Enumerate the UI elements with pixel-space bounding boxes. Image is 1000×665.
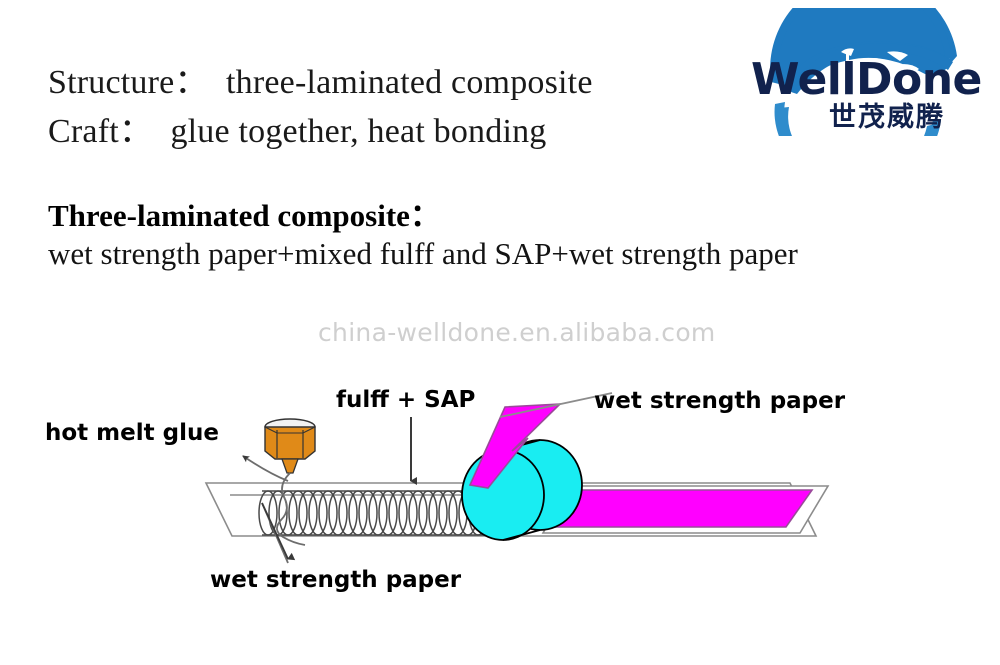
glue-nozzle: [265, 419, 315, 473]
header-structure-line: Structure： three-laminated composite: [48, 54, 593, 103]
logo-wordmark: WellDone: [751, 54, 982, 105]
section-title: Three-laminated composite：: [48, 190, 441, 235]
label-wet-strength-paper-bottom: wet strength paper: [210, 567, 461, 593]
header-craft-line: Craft： glue together, heat bonding: [48, 103, 547, 152]
label-wet-strength-paper-top: wet strength paper: [594, 388, 845, 414]
section-body: wet strength paper+mixed fulff and SAP+w…: [48, 236, 798, 272]
logo-chinese-name: 世茂威腾: [829, 102, 945, 133]
brand-logo: WellDone 世茂威腾: [745, 8, 985, 136]
label-hot-melt-glue: hot melt glue: [45, 420, 219, 446]
hot-melt-glue-leader: [243, 456, 288, 481]
watermark-url: china-welldone.en.alibaba.com: [318, 318, 716, 347]
label-fulff-sap: fulff + SAP: [336, 387, 475, 413]
process-diagram: [0, 355, 1000, 620]
slide-page: Structure： three-laminated composite Cra…: [0, 0, 1000, 665]
